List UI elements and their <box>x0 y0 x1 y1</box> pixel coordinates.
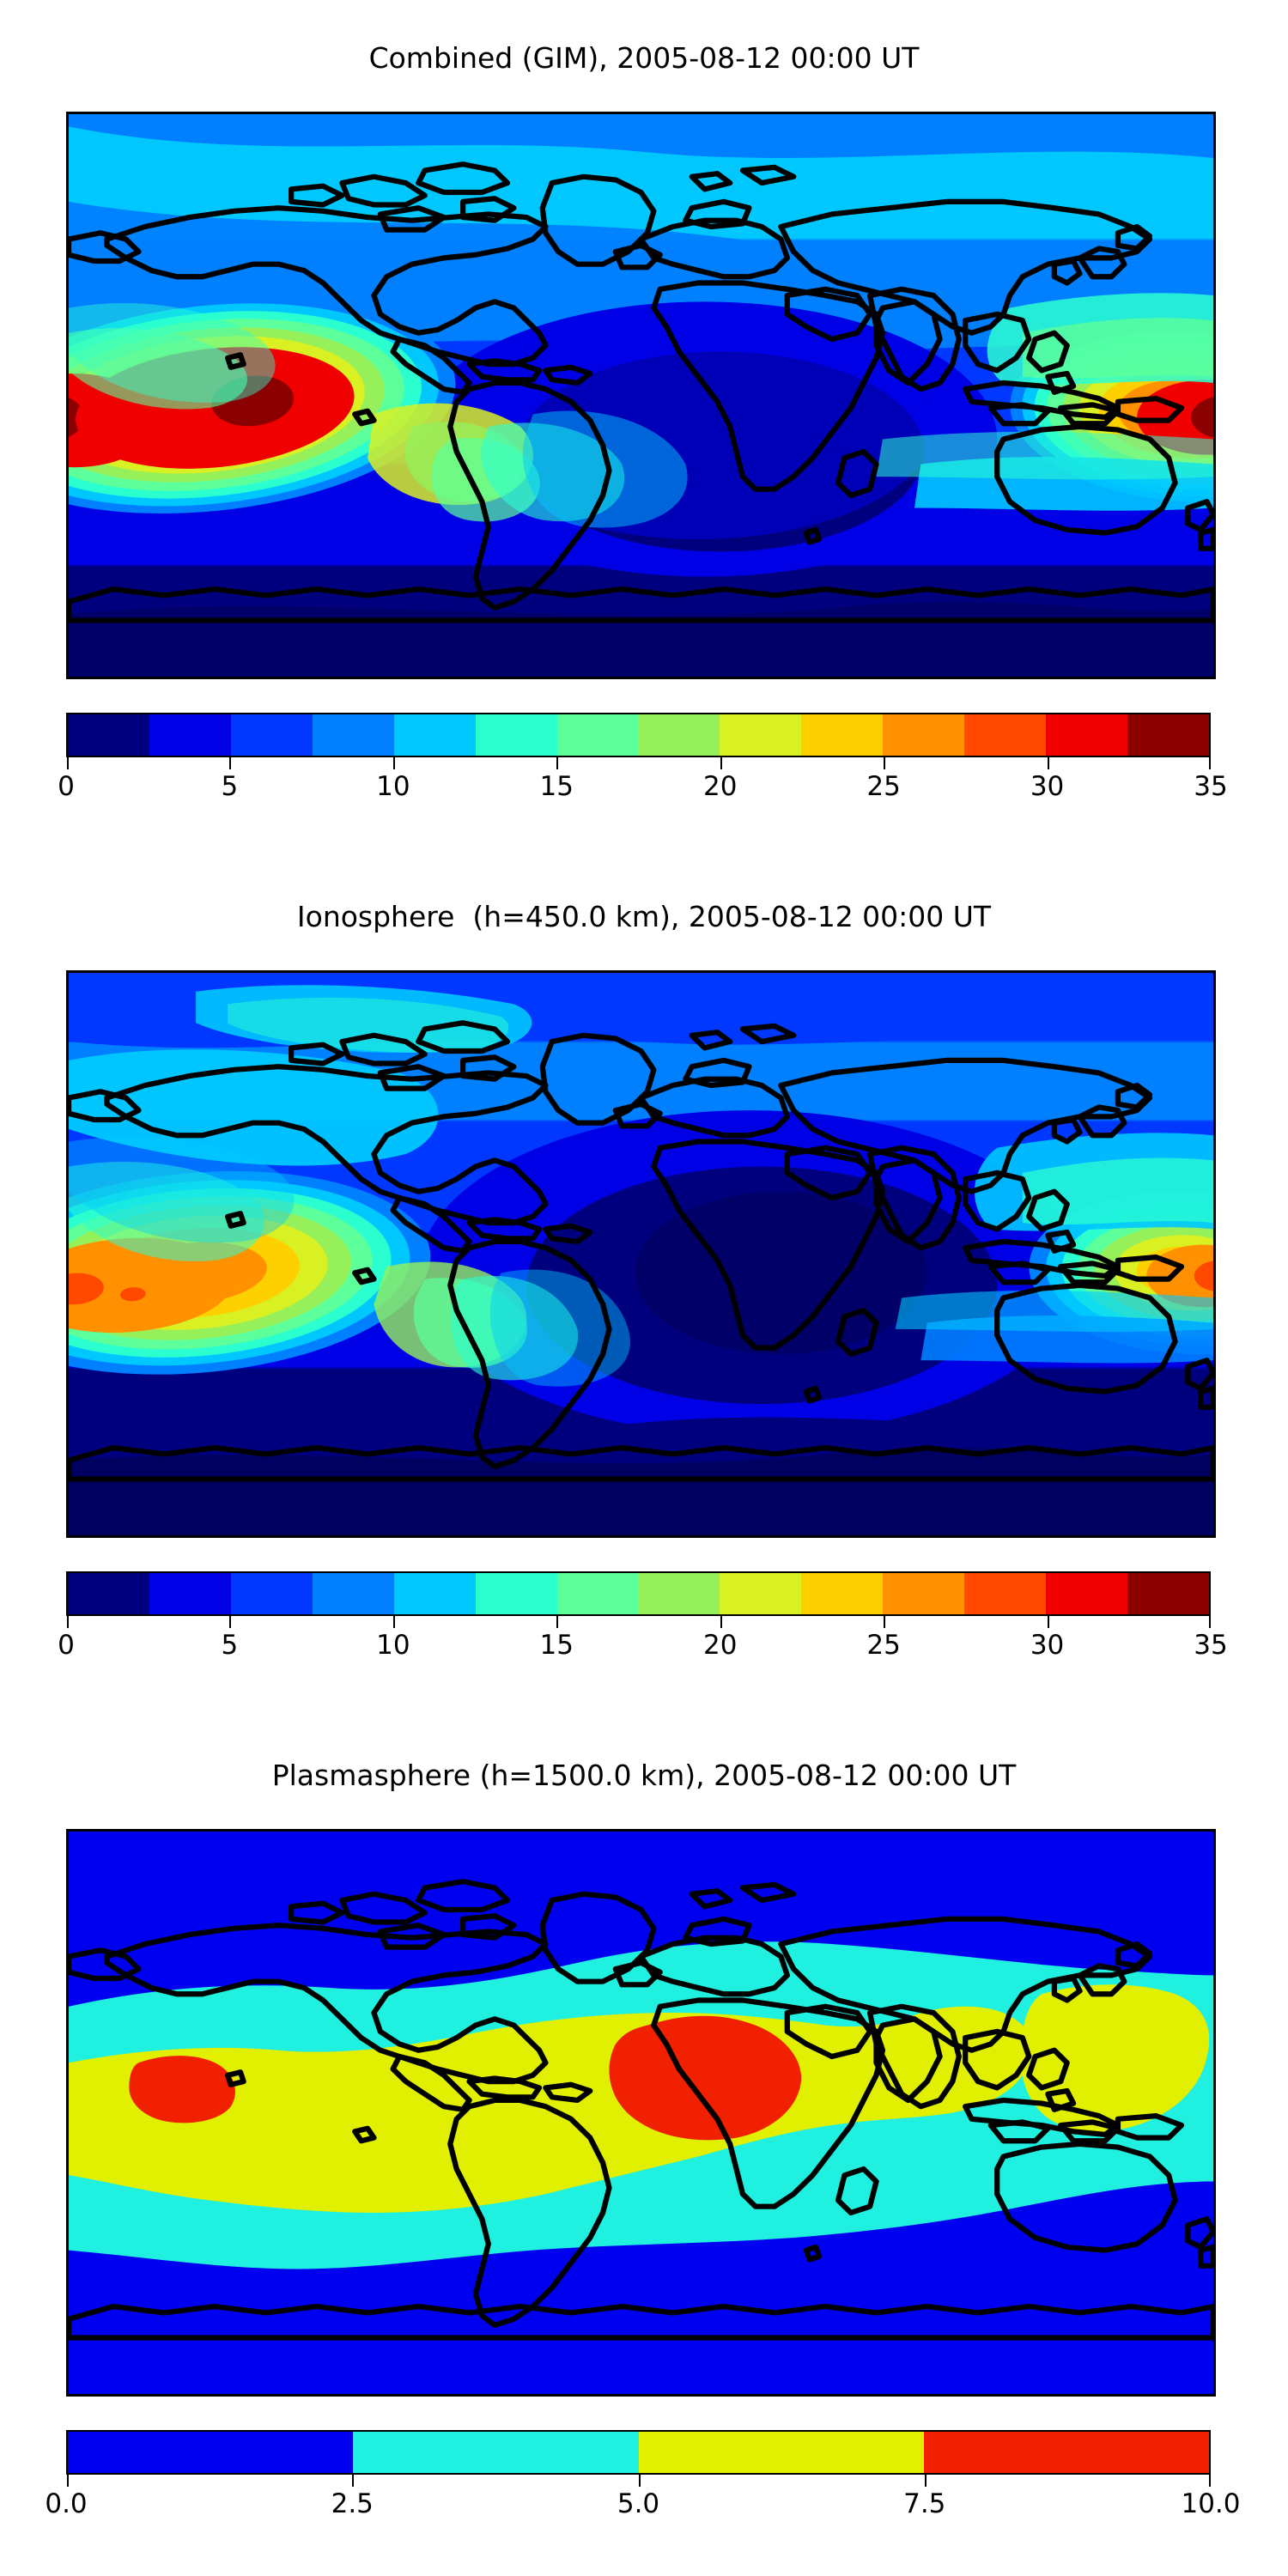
colorbar-combined: 05101520253035 <box>66 713 1211 807</box>
colorbar-tick-0 <box>67 1616 69 1628</box>
colorbar-label-3: 7.5 <box>903 2488 945 2519</box>
map-combined-gim <box>66 112 1216 679</box>
colorbar-label-7: 35 <box>1194 771 1227 802</box>
colorbar-segment-9 <box>801 1573 883 1614</box>
colorbar-label-6: 30 <box>1030 1630 1064 1661</box>
colorbar-label-3: 15 <box>540 1630 574 1661</box>
panel-title-combined: Combined (GIM), 2005-08-12 00:00 UT <box>0 41 1288 75</box>
colorbar-segment-3 <box>313 714 394 756</box>
colorbar-tick-7 <box>1209 1616 1211 1628</box>
colorbar-segment-9 <box>801 714 883 756</box>
colorbar-ionosphere-ticks <box>66 1616 1211 1628</box>
colorbar-segment-0 <box>68 714 149 756</box>
colorbar-label-2: 10 <box>376 1630 410 1661</box>
colorbar-segment-2 <box>231 714 313 756</box>
colorbar-segment-2 <box>639 2432 924 2473</box>
colorbar-ionosphere-bar <box>66 1571 1211 1616</box>
colorbar-segment-12 <box>1046 1573 1127 1614</box>
colorbar-ionosphere-labels: 05101520253035 <box>66 1628 1211 1666</box>
colorbar-tick-2 <box>639 2475 641 2487</box>
colorbar-segment-5 <box>476 1573 557 1614</box>
panel-combined-gim: Combined (GIM), 2005-08-12 00:00 UT <box>0 0 1288 859</box>
colorbar-segment-7 <box>638 714 720 756</box>
colorbar-label-2: 5.0 <box>617 2488 659 2519</box>
colorbar-plasmasphere-ticks <box>66 2475 1211 2487</box>
colorbar-label-6: 30 <box>1030 771 1064 802</box>
colorbar-segment-6 <box>557 714 639 756</box>
panel-plasmasphere: Plasmasphere (h=1500.0 km), 2005-08-12 0… <box>0 1717 1288 2576</box>
colorbar-tick-1 <box>229 757 231 769</box>
map-canvas-plasmasphere <box>69 1832 1213 2394</box>
colorbar-combined-bar <box>66 713 1211 757</box>
colorbar-label-4: 20 <box>703 771 737 802</box>
colorbar-plasmasphere: 0.02.55.07.510.0 <box>66 2430 1211 2524</box>
colorbar-label-0: 0 <box>58 1630 75 1661</box>
colorbar-label-1: 5 <box>222 1630 239 1661</box>
colorbar-segment-5 <box>476 714 557 756</box>
colorbar-ionosphere: 05101520253035 <box>66 1571 1211 1666</box>
colorbar-segment-11 <box>964 714 1046 756</box>
tec-map-figure: Combined (GIM), 2005-08-12 00:00 UT <box>0 0 1288 2576</box>
colorbar-tick-6 <box>1048 757 1049 769</box>
colorbar-segment-1 <box>353 2432 638 2473</box>
colorbar-tick-2 <box>393 1616 395 1628</box>
colorbar-segment-13 <box>1127 714 1209 756</box>
colorbar-label-4: 10.0 <box>1181 2488 1240 2519</box>
colorbar-segment-3 <box>313 1573 394 1614</box>
colorbar-segment-1 <box>149 714 231 756</box>
colorbar-tick-2 <box>393 757 395 769</box>
colorbar-segment-0 <box>68 2432 353 2473</box>
colorbar-segment-4 <box>394 1573 476 1614</box>
panel-title-ionosphere: Ionosphere (h=450.0 km), 2005-08-12 00:0… <box>0 900 1288 933</box>
colorbar-tick-0 <box>67 2475 69 2487</box>
colorbar-segment-8 <box>720 1573 801 1614</box>
colorbar-label-7: 35 <box>1194 1630 1227 1661</box>
colorbar-segment-0 <box>68 1573 149 1614</box>
map-ionosphere <box>66 970 1216 1538</box>
colorbar-segment-6 <box>557 1573 639 1614</box>
colorbar-segment-3 <box>924 2432 1209 2473</box>
colorbar-tick-3 <box>925 2475 927 2487</box>
colorbar-tick-5 <box>884 1616 885 1628</box>
colorbar-tick-4 <box>720 1616 722 1628</box>
colorbar-segment-10 <box>883 1573 964 1614</box>
colorbar-tick-1 <box>229 1616 231 1628</box>
colorbar-segment-11 <box>964 1573 1046 1614</box>
colorbar-label-2: 10 <box>376 771 410 802</box>
colorbar-label-1: 5 <box>222 771 239 802</box>
colorbar-segment-8 <box>720 714 801 756</box>
colorbar-segment-4 <box>394 714 476 756</box>
colorbar-tick-0 <box>67 757 69 769</box>
panel-ionosphere: Ionosphere (h=450.0 km), 2005-08-12 00:0… <box>0 859 1288 1717</box>
colorbar-label-1: 2.5 <box>331 2488 374 2519</box>
map-canvas-combined <box>69 114 1213 677</box>
colorbar-label-5: 25 <box>866 1630 900 1661</box>
colorbar-segment-10 <box>883 714 964 756</box>
colorbar-tick-3 <box>556 1616 558 1628</box>
colorbar-segment-13 <box>1127 1573 1209 1614</box>
panel-title-plasmasphere: Plasmasphere (h=1500.0 km), 2005-08-12 0… <box>0 1759 1288 1792</box>
colorbar-combined-labels: 05101520253035 <box>66 769 1211 807</box>
colorbar-label-0: 0.0 <box>45 2488 87 2519</box>
map-canvas-ionosphere <box>69 973 1213 1535</box>
colorbar-tick-6 <box>1048 1616 1049 1628</box>
colorbar-tick-3 <box>556 757 558 769</box>
colorbar-segment-12 <box>1046 714 1127 756</box>
colorbar-label-0: 0 <box>58 771 75 802</box>
colorbar-tick-1 <box>352 2475 354 2487</box>
colorbar-tick-5 <box>884 757 885 769</box>
colorbar-label-3: 15 <box>540 771 574 802</box>
colorbar-tick-4 <box>720 757 722 769</box>
colorbar-segment-7 <box>638 1573 720 1614</box>
colorbar-plasmasphere-bar <box>66 2430 1211 2475</box>
colorbar-segment-1 <box>149 1573 231 1614</box>
map-plasmasphere <box>66 1829 1216 2397</box>
colorbar-tick-7 <box>1209 757 1211 769</box>
colorbar-segment-2 <box>231 1573 313 1614</box>
colorbar-label-4: 20 <box>703 1630 737 1661</box>
colorbar-label-5: 25 <box>866 771 900 802</box>
colorbar-plasmasphere-labels: 0.02.55.07.510.0 <box>66 2487 1211 2524</box>
colorbar-tick-4 <box>1209 2475 1211 2487</box>
colorbar-combined-ticks <box>66 757 1211 769</box>
